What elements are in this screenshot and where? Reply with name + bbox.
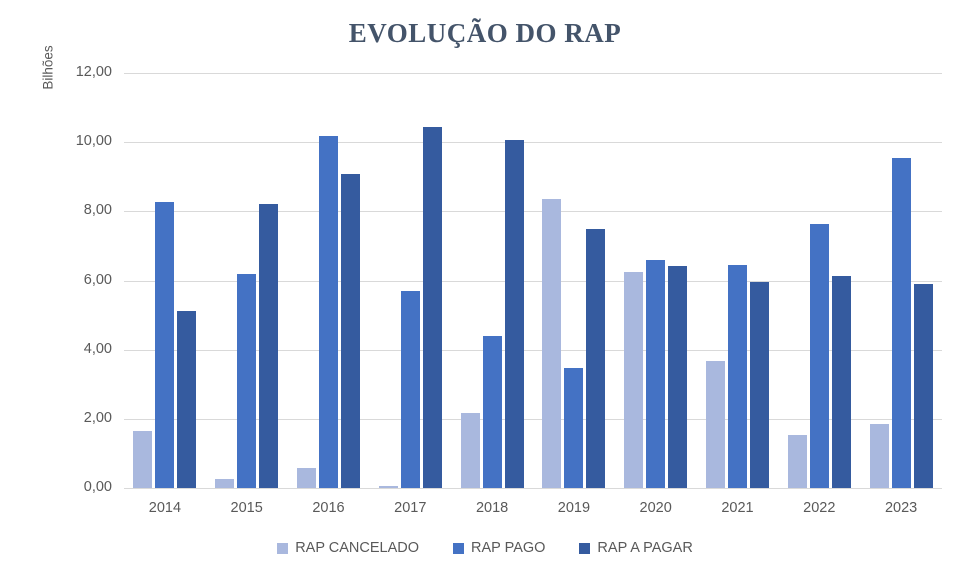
bar[interactable] <box>177 311 196 488</box>
x-axis-tick-label: 2023 <box>860 500 942 516</box>
bar[interactable] <box>505 140 524 488</box>
legend-item[interactable]: RAP PAGO <box>453 540 545 556</box>
bar[interactable] <box>319 136 338 488</box>
legend-label: RAP PAGO <box>471 540 545 556</box>
bar[interactable] <box>668 266 687 488</box>
bar-group <box>451 73 533 488</box>
y-axis-tick-label: 2,00 <box>52 411 112 426</box>
y-axis-tick-label: 8,00 <box>52 203 112 218</box>
bar[interactable] <box>914 284 933 488</box>
x-axis-tick-label: 2020 <box>615 500 697 516</box>
plot-area <box>124 73 942 488</box>
bar-group-bars <box>124 73 206 488</box>
bar-group <box>288 73 370 488</box>
bar[interactable] <box>401 291 420 488</box>
legend-label: RAP CANCELADO <box>295 540 419 556</box>
bar[interactable] <box>259 204 278 488</box>
legend-label: RAP A PAGAR <box>597 540 692 556</box>
x-axis-tick-label: 2017 <box>369 500 451 516</box>
bar-group-bars <box>860 73 942 488</box>
y-axis-tick-label: 0,00 <box>52 480 112 495</box>
chart-container: EVOLUÇÃO DO RAP Bilhões 12,0010,008,006,… <box>0 0 970 585</box>
bar-group <box>860 73 942 488</box>
x-axis-tick-label: 2018 <box>451 500 533 516</box>
y-axis-tick-label: 6,00 <box>52 273 112 288</box>
y-axis-tick-label: 10,00 <box>52 134 112 149</box>
bar[interactable] <box>810 224 829 488</box>
bar[interactable] <box>423 127 442 488</box>
bar-group <box>697 73 779 488</box>
bar[interactable] <box>624 272 643 488</box>
x-axis-tick-label: 2021 <box>697 500 779 516</box>
bar-group <box>533 73 615 488</box>
legend-item[interactable]: RAP A PAGAR <box>579 540 692 556</box>
bar-group <box>369 73 451 488</box>
bar[interactable] <box>155 202 174 488</box>
bar[interactable] <box>728 265 747 488</box>
bar-group-bars <box>206 73 288 488</box>
bar-group-bars <box>369 73 451 488</box>
bar-group-bars <box>615 73 697 488</box>
bar-group-bars <box>778 73 860 488</box>
bar-group <box>615 73 697 488</box>
bar[interactable] <box>341 174 360 488</box>
bar[interactable] <box>706 361 725 488</box>
bar[interactable] <box>483 336 502 488</box>
bar-group-bars <box>451 73 533 488</box>
bar[interactable] <box>750 282 769 488</box>
bar[interactable] <box>832 276 851 488</box>
bar-group-bars <box>697 73 779 488</box>
bar-group <box>206 73 288 488</box>
bar-group <box>778 73 860 488</box>
x-axis-tick-label: 2015 <box>206 500 288 516</box>
bar[interactable] <box>133 431 152 488</box>
bar[interactable] <box>586 229 605 488</box>
bar-group <box>124 73 206 488</box>
x-axis-tick-label: 2014 <box>124 500 206 516</box>
legend-swatch-icon <box>579 543 590 554</box>
bar[interactable] <box>788 435 807 488</box>
bar[interactable] <box>297 468 316 488</box>
chart-title: EVOLUÇÃO DO RAP <box>0 18 970 49</box>
chart-legend: RAP CANCELADORAP PAGORAP A PAGAR <box>0 540 970 556</box>
bar[interactable] <box>461 413 480 488</box>
bar[interactable] <box>542 199 561 488</box>
x-axis-line <box>124 488 942 489</box>
y-axis-tick-label: 12,00 <box>52 65 112 80</box>
y-axis-tick-label: 4,00 <box>52 342 112 357</box>
bar[interactable] <box>237 274 256 488</box>
legend-swatch-icon <box>277 543 288 554</box>
x-axis-tick-label: 2016 <box>288 500 370 516</box>
y-axis-tick-labels: 12,0010,008,006,004,002,000,00 <box>46 0 112 585</box>
bar[interactable] <box>215 479 234 488</box>
x-axis-tick-label: 2019 <box>533 500 615 516</box>
x-axis-tick-label: 2022 <box>778 500 860 516</box>
bar[interactable] <box>646 260 665 488</box>
bar[interactable] <box>564 368 583 488</box>
legend-item[interactable]: RAP CANCELADO <box>277 540 419 556</box>
bar[interactable] <box>870 424 889 488</box>
legend-swatch-icon <box>453 543 464 554</box>
bar-group-bars <box>533 73 615 488</box>
bar[interactable] <box>892 158 911 488</box>
bar-group-bars <box>288 73 370 488</box>
